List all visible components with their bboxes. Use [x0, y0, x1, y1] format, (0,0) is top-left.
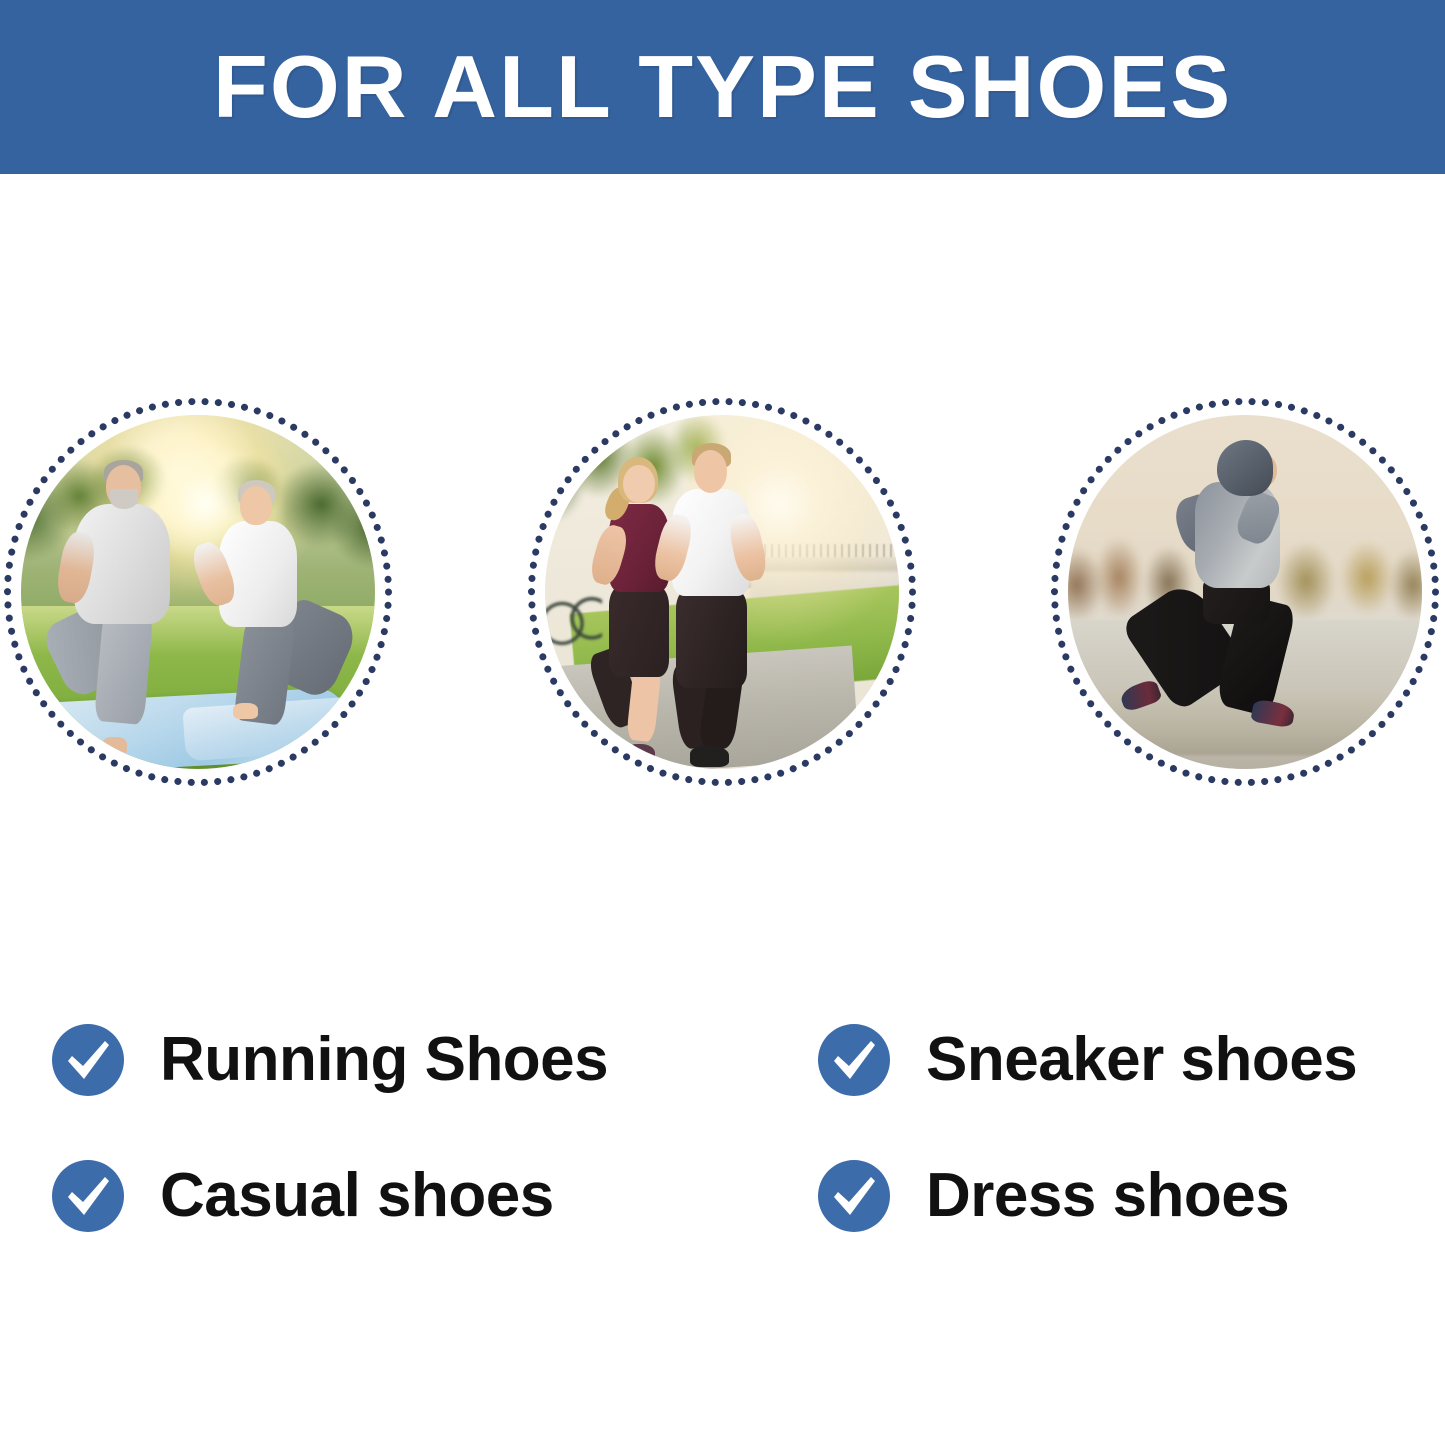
- page-title: FOR ALL TYPE SHOES: [213, 43, 1232, 131]
- check-icon: [52, 1024, 124, 1096]
- header-banner: FOR ALL TYPE SHOES: [0, 0, 1445, 174]
- feature-checklist: Running Shoes Sneaker shoes Casual shoes…: [0, 1004, 1445, 1254]
- circle-photo-2: [545, 415, 899, 769]
- photo-hooded-runner: [1068, 415, 1422, 769]
- feature-label: Casual shoes: [160, 1165, 554, 1227]
- gallery-item-1: [4, 398, 392, 786]
- photo-senior-couple-stretching: [21, 415, 375, 769]
- check-icon: [52, 1160, 124, 1232]
- feature-label: Running Shoes: [160, 1029, 608, 1091]
- check-icon: [818, 1024, 890, 1096]
- feature-item-running-shoes: Running Shoes: [52, 1020, 608, 1100]
- photo-couple-jogging: [545, 415, 899, 769]
- feature-item-casual-shoes: Casual shoes: [52, 1156, 554, 1236]
- feature-label: Sneaker shoes: [926, 1029, 1357, 1091]
- circle-photo-1: [21, 415, 375, 769]
- gallery-item-2: [528, 398, 916, 786]
- gallery-item-3: [1051, 398, 1439, 786]
- check-icon: [818, 1160, 890, 1232]
- feature-item-sneaker-shoes: Sneaker shoes: [818, 1020, 1357, 1100]
- feature-label: Dress shoes: [926, 1165, 1289, 1227]
- photo-gallery: [0, 398, 1445, 790]
- feature-item-dress-shoes: Dress shoes: [818, 1156, 1289, 1236]
- circle-photo-3: [1068, 415, 1422, 769]
